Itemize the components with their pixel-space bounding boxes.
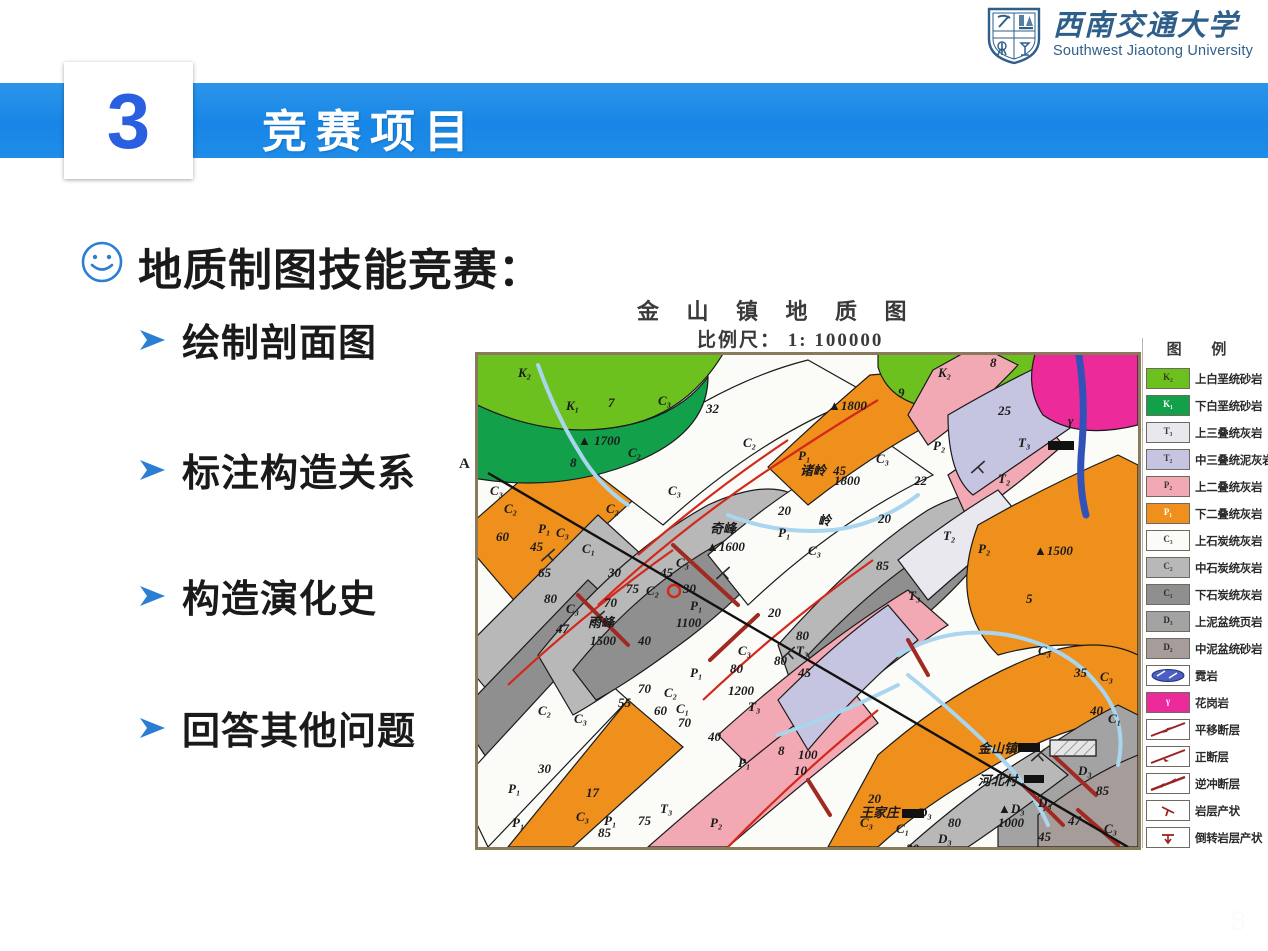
university-logo: 西南交通大学 Southwest Jiaotong University: [985, 4, 1263, 66]
university-name-en: Southwest Jiaotong University: [1053, 44, 1253, 59]
svg-text:T₃: T₃: [908, 588, 920, 603]
svg-text:D₃: D₃: [1037, 795, 1052, 810]
svg-text:5: 5: [1026, 591, 1033, 606]
svg-text:D₃: D₃: [937, 831, 952, 846]
legend-title: 图 例: [1146, 338, 1250, 359]
university-name-block: 西南交通大学 Southwest Jiaotong University: [1053, 12, 1253, 59]
svg-text:1000: 1000: [998, 815, 1025, 830]
svg-text:85: 85: [876, 558, 890, 573]
bullet-item-3: 回答其他问题: [138, 700, 416, 755]
svg-text:40: 40: [707, 729, 722, 744]
legend-swatch-γ: γ: [1146, 692, 1190, 713]
legend-pattern-overturned: [1147, 828, 1189, 847]
legend-row: 霓岩: [1146, 662, 1250, 689]
svg-text:K₁: K₁: [565, 398, 579, 413]
svg-text:河北村: 河北村: [978, 773, 1019, 788]
legend-symbol: T₂: [1147, 450, 1189, 466]
arrow-bullet-icon: [138, 583, 168, 609]
section-number: 3: [107, 82, 150, 160]
svg-text:P₁: P₁: [690, 598, 702, 613]
svg-text:80: 80: [796, 628, 810, 643]
svg-text:70: 70: [604, 595, 618, 610]
svg-text:40: 40: [637, 633, 652, 648]
svg-text:100: 100: [798, 747, 818, 762]
svg-text:P₁: P₁: [778, 525, 790, 540]
svg-text:1500: 1500: [590, 633, 617, 648]
legend-symbol: γ: [1147, 693, 1189, 709]
svg-text:65: 65: [538, 565, 552, 580]
svg-text:8: 8: [990, 355, 997, 370]
svg-text:C₃: C₃: [556, 525, 569, 540]
svg-text:▲1800: ▲1800: [828, 398, 867, 413]
map-scale-label: 比例尺： 1: 100000: [697, 325, 883, 352]
smiley-face-icon: [80, 240, 124, 284]
svg-text:17: 17: [586, 785, 600, 800]
legend-label: 下石炭统灰岩: [1195, 587, 1262, 603]
legend-label: 中三叠统泥灰岩: [1195, 452, 1268, 468]
svg-text:T₂: T₂: [998, 471, 1010, 486]
legend-symbol: C₃: [1147, 531, 1189, 547]
legend-swatch-P₁: P₁: [1146, 503, 1190, 524]
svg-text:T₃: T₃: [660, 801, 672, 816]
legend-symbol: P₁: [1147, 504, 1189, 520]
section-line-label-a: A: [459, 456, 470, 473]
svg-text:P₂: P₂: [978, 541, 990, 556]
legend-swatch-T₃: T₃: [1146, 422, 1190, 443]
legend-label: 霓岩: [1195, 668, 1217, 684]
svg-text:80: 80: [730, 661, 744, 676]
svg-text:C₃: C₃: [574, 711, 587, 726]
svg-text:▲ 1700: ▲ 1700: [578, 433, 621, 448]
bullet-item-2: 构造演化史: [138, 568, 377, 623]
legend-swatch-P₂: P₂: [1146, 476, 1190, 497]
legend-label: 正断层: [1195, 749, 1229, 765]
svg-text:70: 70: [678, 715, 692, 730]
svg-text:55: 55: [618, 695, 632, 710]
svg-text:40: 40: [1089, 703, 1104, 718]
svg-text:47: 47: [1067, 813, 1082, 828]
svg-text:T₃: T₃: [1018, 435, 1030, 450]
legend-row: D₃上泥盆统页岩: [1146, 608, 1250, 635]
legend-row: K₁下白垩统砂岩: [1146, 392, 1250, 419]
svg-text:C₃: C₃: [1038, 643, 1051, 658]
svg-text:20: 20: [777, 503, 792, 518]
shield-logo-icon: [985, 5, 1043, 65]
legend-swatch-normal-fault: [1146, 746, 1190, 767]
legend-symbol: K₂: [1147, 369, 1189, 385]
svg-text:C₁: C₁: [896, 821, 909, 836]
svg-text:10: 10: [794, 763, 808, 778]
svg-text:75: 75: [638, 813, 652, 828]
svg-text:45: 45: [797, 665, 812, 680]
svg-text:45: 45: [659, 565, 674, 580]
arrow-bullet-icon: [138, 715, 168, 741]
section-title: 竞赛项目: [262, 95, 478, 160]
svg-text:85: 85: [1096, 783, 1110, 798]
legend-label: 花岗岩: [1195, 695, 1229, 711]
legend-symbol: D₂: [1147, 639, 1189, 655]
legend-label: 倒转岩层产状: [1195, 830, 1262, 846]
svg-text:9: 9: [898, 385, 905, 400]
svg-text:22: 22: [913, 473, 928, 488]
legend-swatch-bedding: [1146, 800, 1190, 821]
svg-text:奇峰: 奇峰: [710, 521, 738, 536]
svg-text:1200: 1200: [728, 683, 755, 698]
svg-text:1100: 1100: [676, 615, 702, 630]
svg-text:80: 80: [774, 653, 788, 668]
legend-row: 逆冲断层: [1146, 770, 1250, 797]
svg-text:C₂: C₂: [664, 685, 677, 700]
svg-text:雨峰: 雨峰: [588, 615, 616, 630]
legend-pattern-bedding: [1147, 801, 1189, 820]
legend-symbol: C₁: [1147, 585, 1189, 601]
legend-swatch-dike: [1146, 665, 1190, 686]
bullet-label: 回答其他问题: [182, 700, 416, 755]
legend-symbol: P₂: [1147, 477, 1189, 493]
svg-text:P₂: P₂: [710, 815, 722, 830]
bullet-item-0: 绘制剖面图: [138, 312, 377, 367]
legend-label: 上白垩统砂岩: [1195, 371, 1262, 387]
map-title: 金 山 镇 地 质 图: [637, 294, 918, 326]
svg-text:20: 20: [877, 511, 892, 526]
svg-text:C₂: C₂: [504, 501, 517, 516]
svg-text:γ: γ: [1068, 413, 1074, 428]
legend-label: 下二叠统灰岩: [1195, 506, 1262, 522]
svg-text:C₃: C₃: [576, 809, 589, 824]
legend-label: 下白垩统砂岩: [1195, 398, 1262, 414]
legend-symbol: T₃: [1147, 423, 1189, 439]
bullet-item-1: 标注构造关系: [138, 442, 416, 497]
legend-swatch-K₁: K₁: [1146, 395, 1190, 416]
legend-swatch-D₃: D₃: [1146, 611, 1190, 632]
svg-text:金山镇: 金山镇: [978, 741, 1019, 756]
bullet-label: 绘制剖面图: [182, 312, 377, 367]
svg-text:45: 45: [1037, 829, 1052, 844]
legend-row: C₁下石炭统灰岩: [1146, 581, 1250, 608]
svg-text:30: 30: [537, 761, 552, 776]
svg-text:P₂: P₂: [933, 438, 945, 453]
legend-row: 平移断层: [1146, 716, 1250, 743]
svg-text:C₁: C₁: [1108, 711, 1121, 726]
svg-text:C₃: C₃: [676, 555, 689, 570]
bullet-label: 构造演化史: [182, 568, 377, 623]
svg-text:▲1500: ▲1500: [1034, 543, 1073, 558]
svg-text:P₁: P₁: [512, 815, 524, 830]
svg-text:D₃: D₃: [1077, 763, 1092, 778]
svg-text:C₃: C₃: [668, 483, 681, 498]
svg-text:70: 70: [638, 681, 652, 696]
legend-row: 岩层产状: [1146, 797, 1250, 824]
svg-text:1800: 1800: [834, 473, 861, 488]
page-number: 8: [1230, 905, 1246, 937]
arrow-bullet-icon: [138, 327, 168, 353]
svg-text:C₁: C₁: [582, 541, 595, 556]
legend-row: K₂上白垩统砂岩: [1146, 365, 1250, 392]
svg-text:P₁: P₁: [798, 448, 810, 463]
map-legend: 图 例 K₂上白垩统砂岩K₁下白垩统砂岩T₃上三叠统灰岩T₂中三叠统泥灰岩P₂上…: [1142, 338, 1250, 848]
svg-text:7: 7: [608, 395, 615, 410]
svg-text:T₂: T₂: [943, 528, 955, 543]
svg-text:25: 25: [997, 403, 1012, 418]
svg-text:C₃: C₃: [1100, 669, 1113, 684]
legend-symbol: C₂: [1147, 558, 1189, 574]
legend-symbol: D₃: [1147, 612, 1189, 628]
svg-text:C₂: C₂: [538, 703, 551, 718]
svg-text:C₂: C₂: [743, 435, 756, 450]
arrow-bullet-icon: [138, 457, 168, 483]
page-title: 地质制图技能竞赛：: [138, 234, 543, 298]
svg-text:C₃: C₃: [566, 601, 579, 616]
svg-text:C₁: C₁: [676, 701, 689, 716]
svg-text:30: 30: [905, 841, 920, 847]
svg-text:P₁: P₁: [738, 755, 750, 770]
svg-text:K₂: K₂: [517, 365, 531, 380]
legend-pattern-strike-slip: [1147, 720, 1189, 739]
legend-row: T₃上三叠统灰岩: [1146, 419, 1250, 446]
legend-row: T₂中三叠统泥灰岩: [1146, 446, 1250, 473]
legend-swatch-C₃: C₃: [1146, 530, 1190, 551]
legend-swatch-overturned: [1146, 827, 1190, 848]
legend-label: 逆冲断层: [1195, 776, 1240, 792]
svg-text:C₂: C₂: [646, 583, 659, 598]
legend-swatch-strike-slip: [1146, 719, 1190, 740]
svg-text:C₂: C₂: [628, 445, 641, 460]
legend-pattern-dike: [1147, 666, 1189, 685]
map-geology-svg: K₂K₁7 K₂89 C₃32 C₂C₂ C₃C₂ P₁20 45C₃ P₂22…: [478, 355, 1138, 847]
svg-text:8: 8: [570, 455, 577, 470]
svg-text:岭: 岭: [818, 513, 833, 528]
svg-text:85: 85: [598, 825, 612, 840]
svg-text:C₃: C₃: [490, 483, 503, 498]
svg-text:30: 30: [682, 581, 697, 596]
university-name-cn: 西南交通大学: [1053, 12, 1253, 41]
legend-row: C₂中石炭统灰岩: [1146, 554, 1250, 581]
svg-text:▲D₃: ▲D₃: [998, 801, 1025, 816]
svg-text:80: 80: [948, 815, 962, 830]
svg-text:75: 75: [626, 581, 640, 596]
legend-label: 平移断层: [1195, 722, 1240, 738]
geological-map: 金 山 镇 地 质 图 比例尺： 1: 100000 A: [459, 290, 1249, 850]
svg-text:8: 8: [778, 743, 785, 758]
legend-row: D₂中泥盆统砂岩: [1146, 635, 1250, 662]
svg-text:P₁: P₁: [538, 521, 550, 536]
legend-row: P₂上二叠统灰岩: [1146, 473, 1250, 500]
legend-label: 中石炭统灰岩: [1195, 560, 1262, 576]
svg-text:60: 60: [496, 529, 510, 544]
map-canvas: K₂K₁7 K₂89 C₃32 C₂C₂ C₃C₂ P₁20 45C₃ P₂22…: [475, 352, 1141, 850]
legend-label: 中泥盆统砂岩: [1195, 641, 1262, 657]
legend-pattern-normal-fault: [1147, 747, 1189, 766]
svg-text:20: 20: [867, 791, 882, 806]
legend-row: 正断层: [1146, 743, 1250, 770]
legend-swatch-thrust-fault: [1146, 773, 1190, 794]
legend-swatch-C₂: C₂: [1146, 557, 1190, 578]
svg-text:C₃: C₃: [1104, 821, 1117, 836]
legend-symbol: K₁: [1147, 396, 1189, 412]
svg-text:C₂: C₂: [606, 501, 619, 516]
svg-text:60: 60: [654, 703, 668, 718]
legend-pattern-thrust-fault: [1147, 774, 1189, 793]
legend-label: 上三叠统灰岩: [1195, 425, 1262, 441]
legend-row: C₃上石炭统灰岩: [1146, 527, 1250, 554]
svg-text:C₃: C₃: [738, 643, 751, 658]
svg-text:35: 35: [1073, 665, 1088, 680]
svg-text:47: 47: [555, 621, 570, 636]
legend-rows: K₂上白垩统砂岩K₁下白垩统砂岩T₃上三叠统灰岩T₂中三叠统泥灰岩P₂上二叠统灰…: [1146, 365, 1250, 851]
legend-swatch-T₂: T₂: [1146, 449, 1190, 470]
svg-text:45: 45: [529, 539, 544, 554]
legend-label: 上二叠统灰岩: [1195, 479, 1262, 495]
svg-text:20: 20: [767, 605, 782, 620]
svg-text:80: 80: [544, 591, 558, 606]
legend-row: γ花岗岩: [1146, 689, 1250, 716]
svg-text:C₃: C₃: [876, 451, 889, 466]
legend-row: 倒转岩层产状: [1146, 824, 1250, 851]
svg-text:P₁: P₁: [690, 665, 702, 680]
svg-text:▲1600: ▲1600: [706, 539, 745, 554]
legend-label: 岩层产状: [1195, 803, 1240, 819]
legend-swatch-K₂: K₂: [1146, 368, 1190, 389]
svg-text:P₁: P₁: [508, 781, 520, 796]
svg-text:30: 30: [607, 565, 622, 580]
svg-text:C₃: C₃: [658, 393, 671, 408]
svg-text:K₂: K₂: [937, 365, 951, 380]
svg-text:32: 32: [705, 401, 720, 416]
svg-text:诸岭: 诸岭: [800, 463, 828, 478]
svg-text:C₃: C₃: [808, 543, 821, 558]
legend-label: 上泥盆统页岩: [1195, 614, 1262, 630]
svg-text:王家庄: 王家庄: [860, 805, 901, 820]
legend-swatch-C₁: C₁: [1146, 584, 1190, 605]
section-number-box: 3: [64, 62, 193, 179]
legend-label: 上石炭统灰岩: [1195, 533, 1262, 549]
bullet-label: 标注构造关系: [182, 442, 416, 497]
legend-row: P₁下二叠统灰岩: [1146, 500, 1250, 527]
svg-text:T₃: T₃: [748, 699, 760, 714]
legend-swatch-D₂: D₂: [1146, 638, 1190, 659]
svg-text:T₃: T₃: [796, 643, 808, 658]
